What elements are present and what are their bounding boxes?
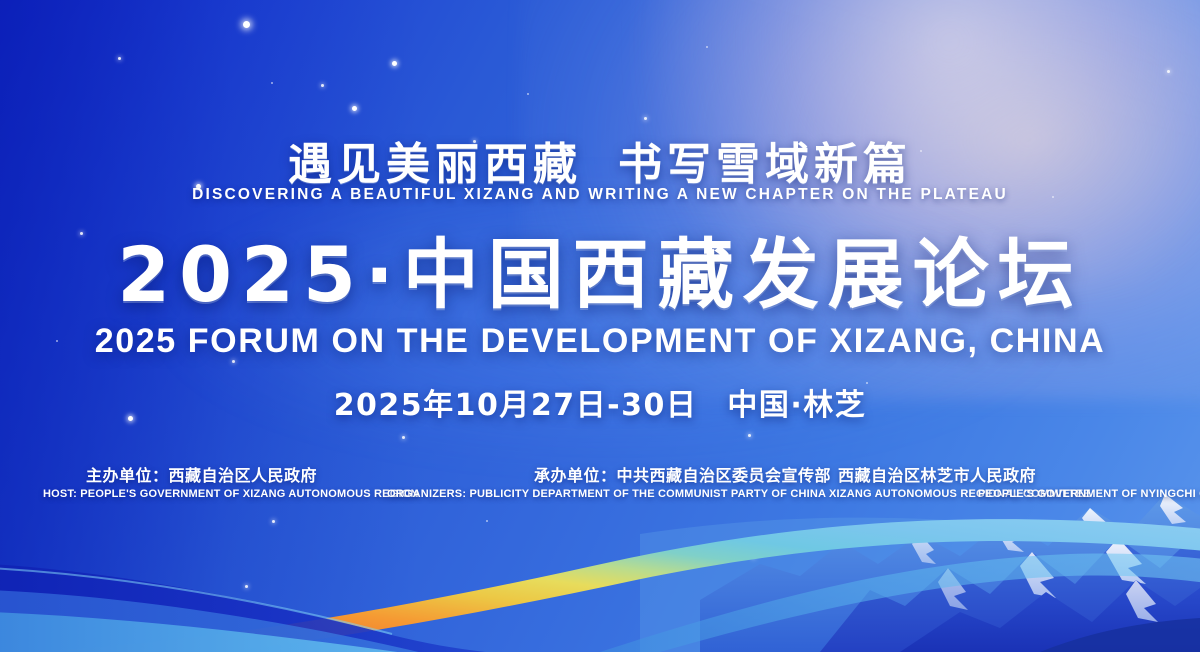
page-title: 2025·中国西藏发展论坛: [0, 236, 1200, 314]
page-title-english: 2025 FORUM ON THE DEVELOPMENT OF XIZANG,…: [0, 322, 1200, 361]
event-date: 2025年10月27日-30日: [334, 388, 698, 423]
tagline-chinese: 遇见美丽西藏书写雪域新篇: [0, 128, 1200, 192]
tagline-chinese-right: 书写雪域新篇: [618, 139, 912, 190]
tagline-english: DISCOVERING A BEAUTIFUL XIZANG AND WRITI…: [0, 186, 1200, 204]
organizers-footer: 主办单位：西藏自治区人民政府 承办单位：中共西藏自治区委员会宣传部 西藏自治区林…: [0, 462, 1200, 524]
event-location: 中国·林芝: [727, 388, 866, 423]
organizers-english-row: HOST: PEOPLE'S GOVERNMENT OF XIZANG AUTO…: [0, 488, 1200, 508]
host-english: HOST: PEOPLE'S GOVERNMENT OF XIZANG AUTO…: [43, 488, 419, 500]
organizers-chinese-row: 主办单位：西藏自治区人民政府 承办单位：中共西藏自治区委员会宣传部 西藏自治区林…: [0, 462, 1200, 484]
organizer-chinese: 承办单位：中共西藏自治区委员会宣传部: [534, 462, 831, 486]
tagline-chinese-left: 遇见美丽西藏: [288, 139, 582, 190]
cohost-chinese: 西藏自治区林芝市人民政府: [838, 462, 1036, 486]
cohost-english: PEOPLE'S GOVERNMENT OF NYINGCHI CITY: [978, 488, 1200, 500]
poster-content: 遇见美丽西藏书写雪域新篇 DISCOVERING A BEAUTIFUL XIZ…: [0, 0, 1200, 652]
event-poster: 遇见美丽西藏书写雪域新篇 DISCOVERING A BEAUTIFUL XIZ…: [0, 0, 1200, 652]
event-date-location: 2025年10月27日-30日中国·林芝: [0, 380, 1200, 424]
host-chinese: 主办单位：西藏自治区人民政府: [86, 462, 317, 486]
